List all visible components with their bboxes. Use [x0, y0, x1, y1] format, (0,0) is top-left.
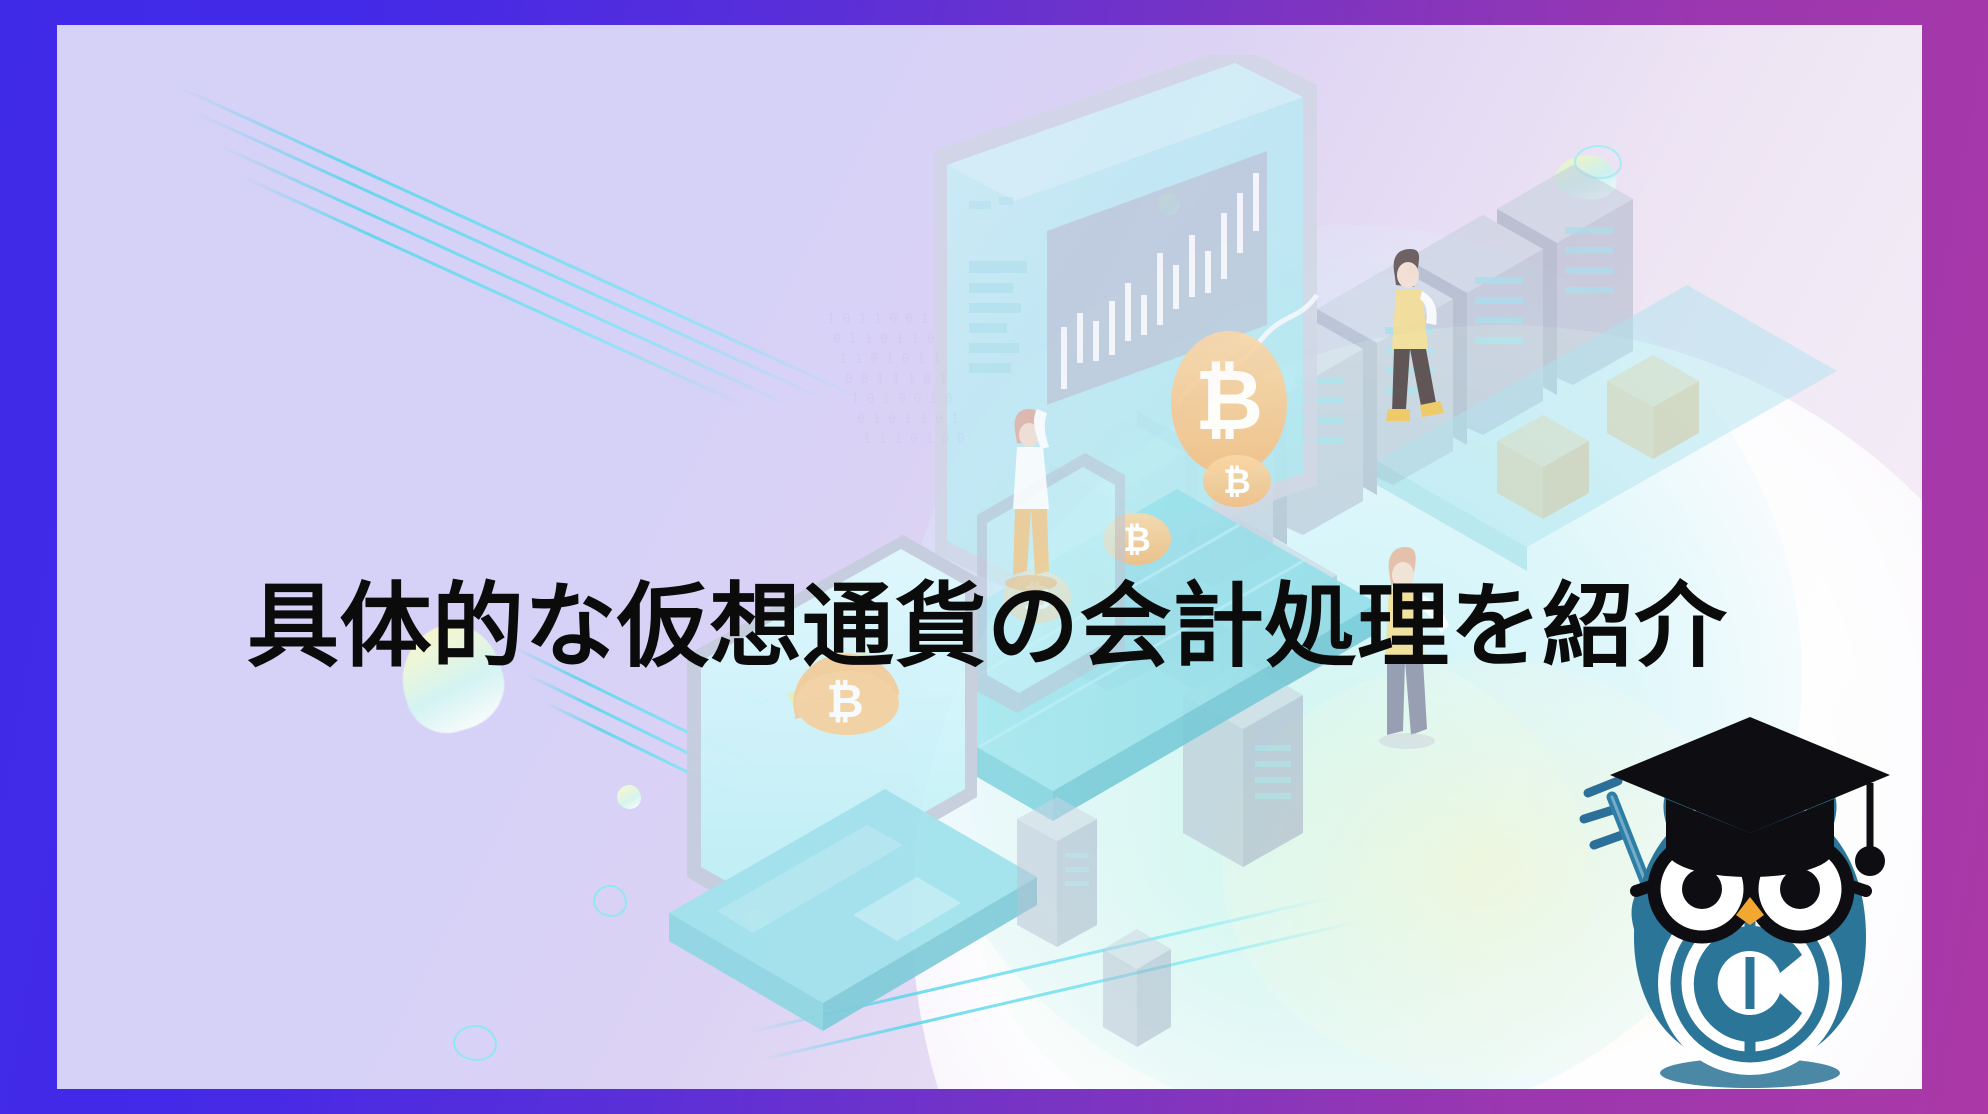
svg-text:₿: ₿	[1123, 520, 1151, 560]
decor-blob-small	[617, 785, 641, 809]
decor-streak	[544, 701, 761, 808]
decor-blob-right	[1552, 151, 1620, 203]
svg-text:0 1 1 0 1 1 0: 0 1 1 0 1 1 0	[833, 332, 935, 347]
cube-block-stack	[1137, 517, 1337, 867]
decor-ring	[593, 885, 627, 917]
owl-pupil-left	[1682, 869, 1722, 909]
decor-streak	[526, 673, 770, 794]
decor-streak	[757, 919, 1362, 1061]
svg-text:0 1 0 1 1 0 1: 0 1 0 1 1 0 1	[857, 412, 959, 427]
owl-mascot	[1574, 701, 1904, 1089]
decor-ring	[1574, 145, 1622, 179]
decor-blob-right	[1158, 193, 1180, 215]
decor-blob-small	[747, 910, 769, 928]
decor-streak	[194, 111, 832, 404]
svg-text:1 1 1 0 1 0 0: 1 1 1 0 1 0 0	[863, 432, 965, 447]
bitcoin-coin-large: ₿	[1171, 331, 1287, 475]
hero-card: ₿	[0, 0, 1988, 1114]
svg-text:0 0 1 1 1 0 1: 0 0 1 1 1 0 1	[845, 372, 947, 387]
server-stack-small	[1017, 797, 1171, 1047]
background-orb-mint	[972, 629, 1592, 1089]
worker-person-walking	[1386, 249, 1444, 421]
belt-coin: ₿	[1203, 455, 1271, 507]
graduation-cap-icon	[1610, 717, 1890, 877]
svg-text:1 1 0 1 0 1 1: 1 1 0 1 0 1 1	[839, 352, 941, 367]
belt-coin: ₿	[1103, 513, 1171, 565]
decor-streak	[176, 85, 869, 402]
decor-streak	[747, 896, 1332, 1033]
worker-person-pointing	[1005, 409, 1057, 591]
svg-text:₿: ₿	[826, 674, 864, 728]
shelf-platform	[1377, 285, 1837, 571]
svg-text:1 0 1 0 0 1 0: 1 0 1 0 0 1 0	[851, 392, 953, 407]
decor-ring	[453, 1025, 497, 1061]
svg-text:1 0 1 1 0 0 1: 1 0 1 1 0 0 1	[827, 312, 929, 327]
decor-ring	[747, 682, 771, 704]
cube-orange	[1497, 355, 1699, 519]
svg-text:₿: ₿	[1223, 462, 1251, 502]
page-title: 具体的な仮想通貨の会計処理を紹介	[247, 575, 1747, 678]
decor-streak	[216, 143, 799, 411]
decor-streak	[241, 175, 752, 410]
hero-panel: ₿	[57, 25, 1922, 1089]
svg-text:₿: ₿	[1195, 351, 1263, 449]
owl-pupil-right	[1780, 869, 1820, 909]
